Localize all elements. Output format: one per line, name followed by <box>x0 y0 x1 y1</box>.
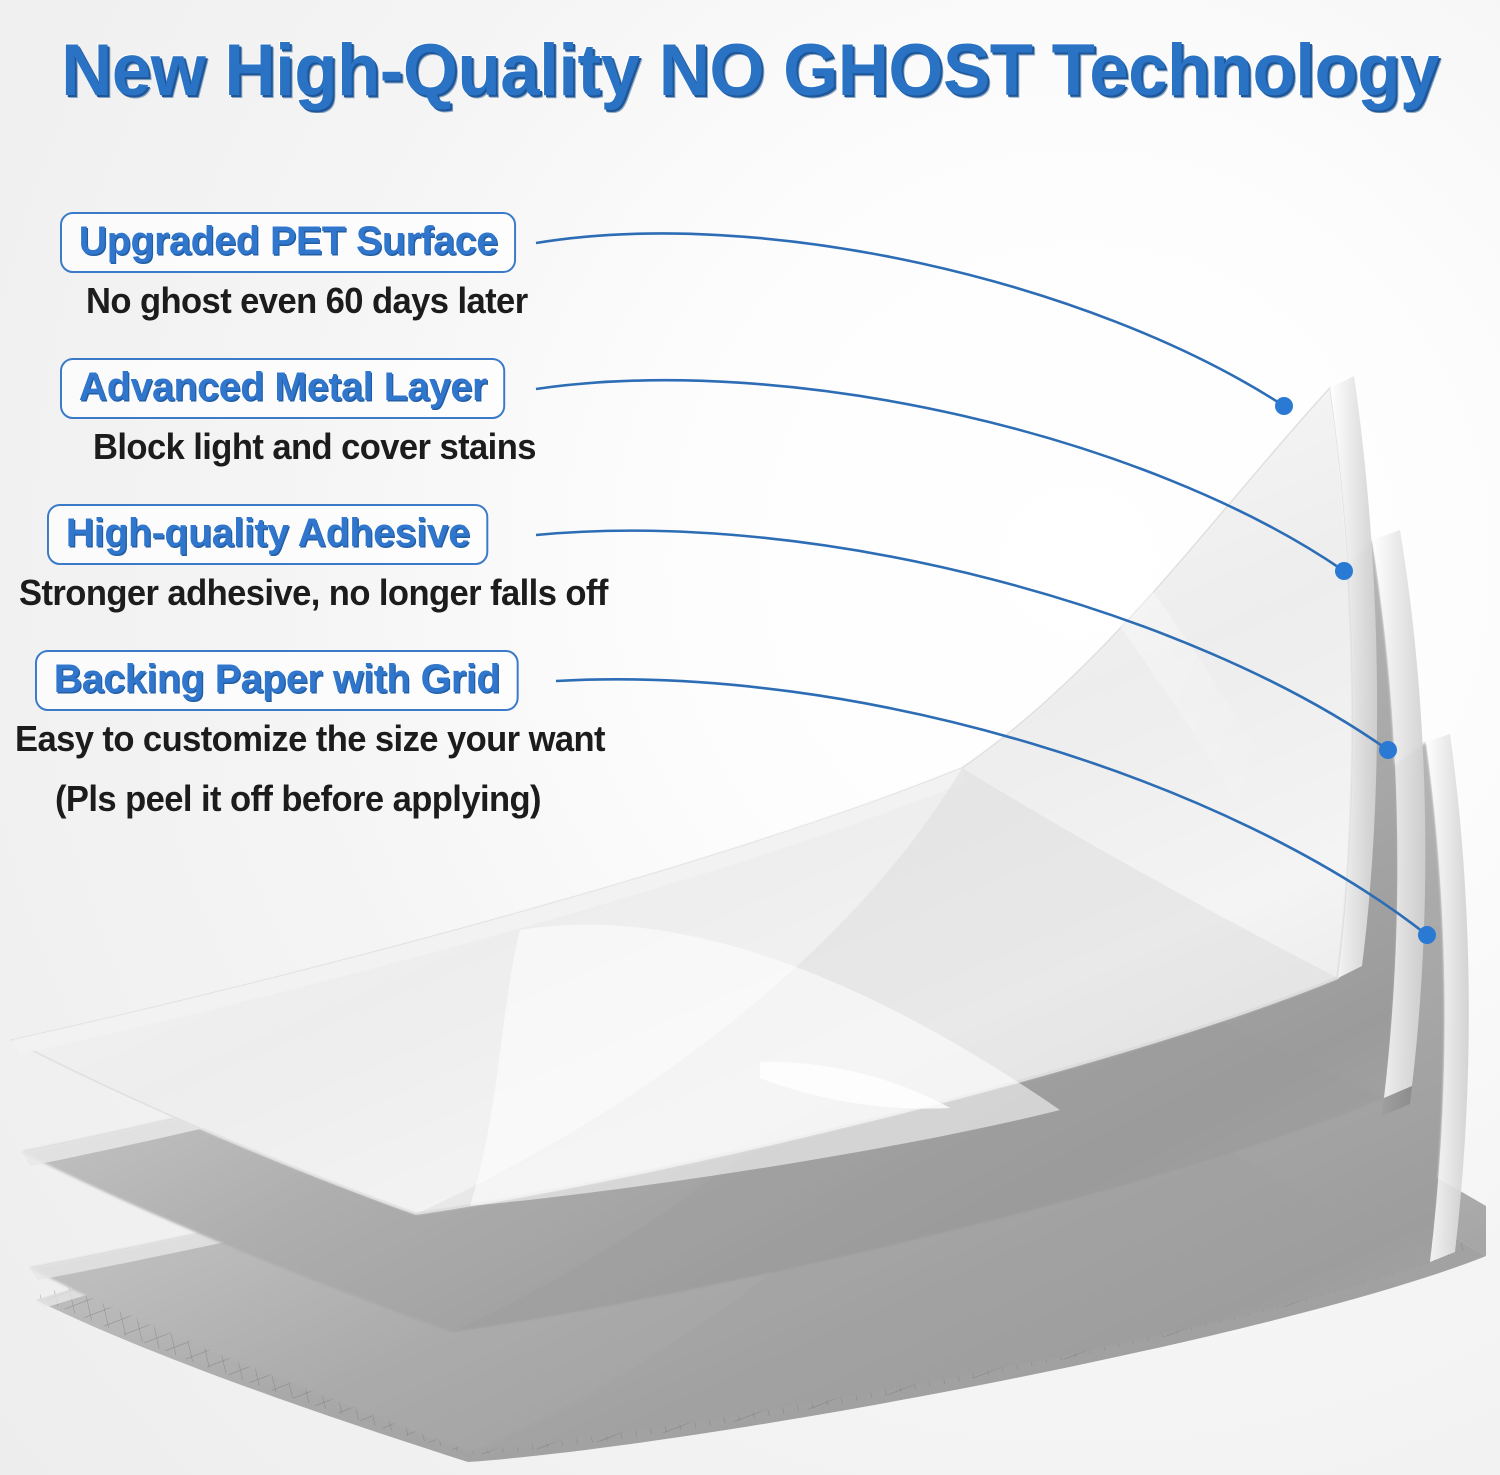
callout-sub-2: Block light and cover stains <box>93 427 536 467</box>
leader-dot-3 <box>1379 741 1397 759</box>
page-title: New High-Quality NO GHOST Technology <box>23 34 1478 107</box>
leader-dot-2 <box>1335 562 1353 580</box>
callout-advanced-metal-layer: Advanced Metal Layer Block light and cov… <box>60 358 554 467</box>
leader-dot-4 <box>1418 926 1436 944</box>
leader-dot-1 <box>1275 397 1293 415</box>
callout-label-2: Advanced Metal Layer <box>60 358 506 419</box>
callout-label-1: Upgraded PET Surface <box>60 212 517 273</box>
callout-list: Upgraded PET Surface No ghost even 60 da… <box>0 0 640 1475</box>
infographic-canvas: New High-Quality NO GHOST Technology Upg… <box>0 0 1500 1475</box>
callout-backing-paper-with-grid: Backing Paper with Grid Easy to customiz… <box>35 650 630 820</box>
callout-sub-4b: (Pls peel it off before applying) <box>55 779 607 819</box>
callout-high-quality-adhesive: High-quality Adhesive Stronger adhesive,… <box>47 504 632 613</box>
callout-sub-1: No ghost even 60 days later <box>86 281 528 321</box>
callout-sub-3: Stronger adhesive, no longer falls off <box>19 573 608 613</box>
callout-label-3: High-quality Adhesive <box>47 504 488 565</box>
callout-upgraded-pet-surface: Upgraded PET Surface No ghost even 60 da… <box>60 212 546 321</box>
callout-sub-4a: Easy to customize the size your want <box>15 719 605 759</box>
callout-label-4: Backing Paper with Grid <box>35 650 519 711</box>
